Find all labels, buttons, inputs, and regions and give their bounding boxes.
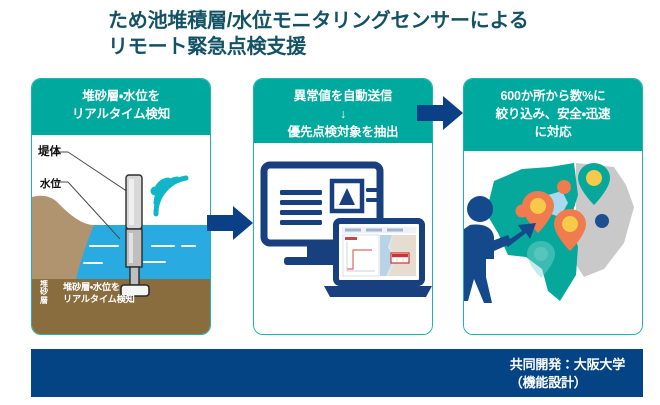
reservoir-cross-section-illustration: 堤体 水位 堆砂層 堆砂層・水位を リアルタイム検知: [32, 135, 210, 335]
sediment-caption-line-2: リアルタイム検知: [63, 293, 193, 305]
panel-auto-transmission: 異常値を自動送信 ↓ 優先点検対象を抽出: [253, 78, 433, 335]
label-embankment: 堤体: [38, 143, 61, 159]
map-dot-icon: [557, 180, 571, 194]
panel-3-header-line-3: に対応: [470, 124, 636, 142]
water-body: [76, 225, 210, 279]
page-title-line-1: ため池堆積層/水位モニタリングセンサーによる: [108, 8, 628, 34]
page-title: ため池堆積層/水位モニタリングセンサーによる リモート緊急点検支援: [108, 8, 628, 61]
panel-prioritized-response: 600か所から数%に 絞り込み、安全・迅速 に対応: [463, 78, 643, 335]
panel-3-header-line-1: 600か所から数%に: [470, 88, 636, 106]
panel-1-header: 堆砂層・水位を リアルタイム検知: [32, 79, 210, 135]
collaboration-credit-line-2: （機能設計）: [510, 374, 625, 392]
panel-sensor-detection: 堆砂層・水位を リアルタイム検知: [31, 78, 211, 335]
arrow-panel2-to-panel3: [417, 96, 463, 130]
dashboard-map-icon: [342, 227, 416, 277]
panel-1-header-line-2: リアルタイム検知: [38, 106, 204, 124]
page-title-line-2: リモート緊急点検支援: [108, 34, 628, 60]
map-dot-navy-icon: [595, 214, 609, 228]
panel-2-header-arrow: ↓: [260, 106, 426, 124]
panel-1-body: 堤体 水位 堆砂層 堆砂層・水位を リアルタイム検知: [32, 135, 210, 335]
label-water-level: 水位: [40, 176, 61, 191]
sediment-caption-line-1: 堆砂層・水位を: [63, 281, 193, 293]
collaboration-credit-line-1: 共同開発：大阪大学: [510, 356, 625, 374]
map-svg: [464, 151, 642, 335]
panel-2-header-line-2: 優先点検対象を抽出: [260, 124, 426, 142]
panel-3-header-line-2: 絞り込み、安全・迅速: [470, 106, 636, 124]
panel-2-body: [254, 143, 432, 335]
panel-3-body: [464, 151, 642, 335]
panel-2-header-line-1: 異常値を自動送信: [260, 88, 426, 106]
label-sediment-vertical: 堆砂層: [40, 280, 50, 304]
sediment-caption: 堆砂層・水位を リアルタイム検知: [63, 281, 193, 306]
footer-banner: 共同開発：大阪大学 （機能設計）: [31, 349, 643, 397]
panel-2-header: 異常値を自動送信 ↓ 優先点検対象を抽出: [254, 79, 432, 143]
region-map-illustration: [464, 151, 642, 335]
workstation-svg: [254, 143, 432, 335]
collaboration-credit: 共同開発：大阪大学 （機能設計）: [510, 356, 625, 392]
panel-3-header: 600か所から数%に 絞り込み、安全・迅速 に対応: [464, 79, 642, 151]
monitoring-workstation-illustration: [254, 143, 432, 335]
panel-1-header-line-1: 堆砂層・水位を: [38, 88, 204, 106]
wifi-dot-icon: [151, 187, 160, 196]
infographic-canvas: ため池堆積層/水位モニタリングセンサーによる リモート緊急点検支援 堆砂層・水位…: [0, 0, 660, 405]
arrow-panel1-to-panel2: [207, 206, 253, 240]
